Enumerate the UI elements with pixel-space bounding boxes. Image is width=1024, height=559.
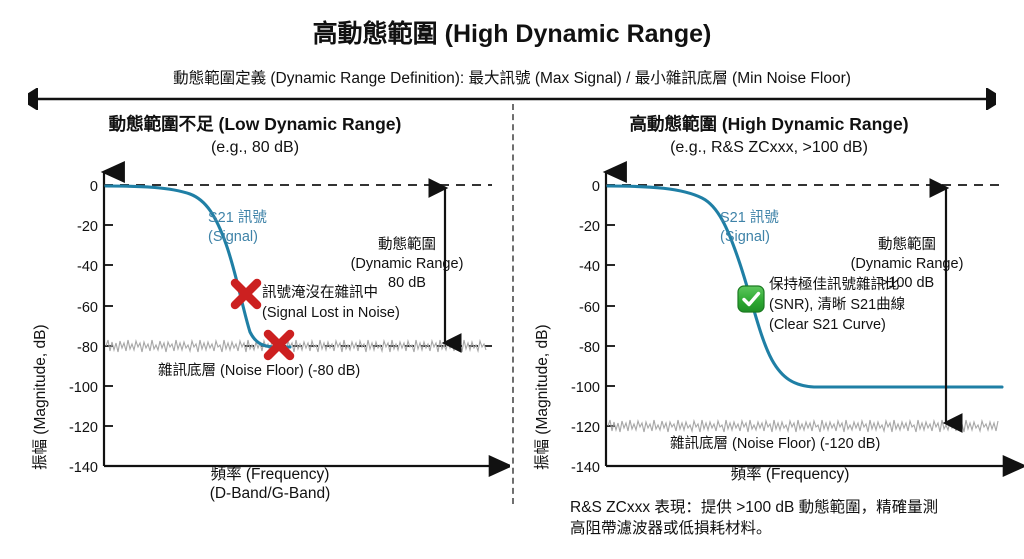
- ytick-low-m120: -120: [69, 420, 98, 436]
- panel-subtitle-high: (e.g., R&S ZCxxx, >100 dB): [534, 138, 1004, 158]
- ytick-low-m60: -60: [77, 300, 98, 316]
- ytick-high-m60: -60: [579, 300, 600, 316]
- snr-ok-high-line1: 保持極佳訊號雜訊比: [769, 276, 900, 293]
- summary-caption-line2: 高阻帶濾波器或低損耗材料。: [570, 519, 1010, 540]
- snr-ok-high-line3: (Clear S21 Curve): [769, 317, 886, 333]
- ytick-high-m100: -100: [571, 380, 600, 396]
- green-check-icon: [737, 285, 765, 313]
- ytick-low-m140: -140: [69, 460, 98, 476]
- noise-floor-caption-low: 雜訊底層 (Noise Floor) (-80 dB): [158, 362, 360, 379]
- x-axis-label-high-line1: 頻率 (Frequency): [640, 466, 940, 485]
- dr-label-low-line2: (Dynamic Range): [351, 256, 464, 272]
- panel-title-low: 動態範圍不足 (Low Dynamic Range): [20, 114, 490, 135]
- ytick-high-m80: -80: [579, 340, 600, 356]
- x-axis-label-low: 頻率 (Frequency) (D-Band/G-Band): [120, 466, 420, 503]
- signal-label-low-line2: (Signal): [208, 229, 258, 245]
- hdr-infographic: 高動態範圍 (High Dynamic Range) 動態範圍定義 (Dynam…: [0, 0, 1024, 559]
- red-x-icon: [262, 328, 296, 362]
- signal-label-low-line1: S21 訊號: [208, 209, 267, 226]
- x-axis-label-high: 頻率 (Frequency): [640, 466, 940, 485]
- panel-subtitle-low: (e.g., 80 dB): [20, 138, 490, 158]
- chart-low-dynamic-range: 0 -20 -40 -60 -80 -100 -120 -140 S21 訊號 …: [40, 160, 510, 490]
- ytick-high-m40: -40: [579, 259, 600, 275]
- page-title: 高動態範圍 (High Dynamic Range): [0, 14, 1024, 50]
- x-axis-label-low-line2: (D-Band/G-Band): [120, 485, 420, 504]
- summary-caption: R&S ZCxxx 表現：提供 >100 dB 動態範圍，精確量測 高阻帶濾波器…: [570, 498, 1010, 540]
- signal-lost-low-line2: (Signal Lost in Noise): [262, 305, 400, 321]
- noise-floor-caption-high: 雜訊底層 (Noise Floor) (-120 dB): [670, 435, 880, 452]
- ytick-low-m100: -100: [69, 380, 98, 396]
- dynamic-range-definition: 動態範圍定義 (Dynamic Range Definition): 最大訊號 …: [0, 66, 1024, 88]
- ytick-low-m40: -40: [77, 259, 98, 275]
- ytick-low-m80: -80: [77, 340, 98, 356]
- x-axis-label-low-line1: 頻率 (Frequency): [120, 466, 420, 485]
- panel-divider: [512, 104, 514, 504]
- panel-title-high: 高動態範圍 (High Dynamic Range): [534, 114, 1004, 135]
- snr-ok-high-line2: (SNR), 清晰 S21曲線: [769, 296, 905, 313]
- dr-label-high-line2: (Dynamic Range): [851, 256, 964, 272]
- ytick-high-m20: -20: [579, 219, 600, 235]
- signal-lost-low-line1: 訊號淹沒在雜訊中: [262, 284, 378, 301]
- noise-floor-trace-high: [608, 420, 998, 432]
- signal-label-high-line2: (Signal): [720, 229, 770, 245]
- summary-caption-line1: R&S ZCxxx 表現：提供 >100 dB 動態範圍，精確量測: [570, 498, 1010, 519]
- ytick-low-0: 0: [90, 179, 98, 195]
- ytick-high-0: 0: [592, 179, 600, 195]
- ytick-high-m140: -140: [571, 460, 600, 476]
- chart-high-dynamic-range: 0 -20 -40 -60 -80 -100 -120 -140 S21 訊號 …: [542, 160, 1024, 490]
- signal-label-high-line1: S21 訊號: [720, 209, 779, 226]
- dr-label-low-line3: 80 dB: [388, 275, 426, 291]
- ytick-low-m20: -20: [77, 219, 98, 235]
- dr-label-low-line1: 動態範圍: [378, 235, 436, 253]
- dr-label-high-line1: 動態範圍: [878, 235, 936, 253]
- ytick-high-m120: -120: [571, 420, 600, 436]
- red-x-icon: [229, 277, 263, 311]
